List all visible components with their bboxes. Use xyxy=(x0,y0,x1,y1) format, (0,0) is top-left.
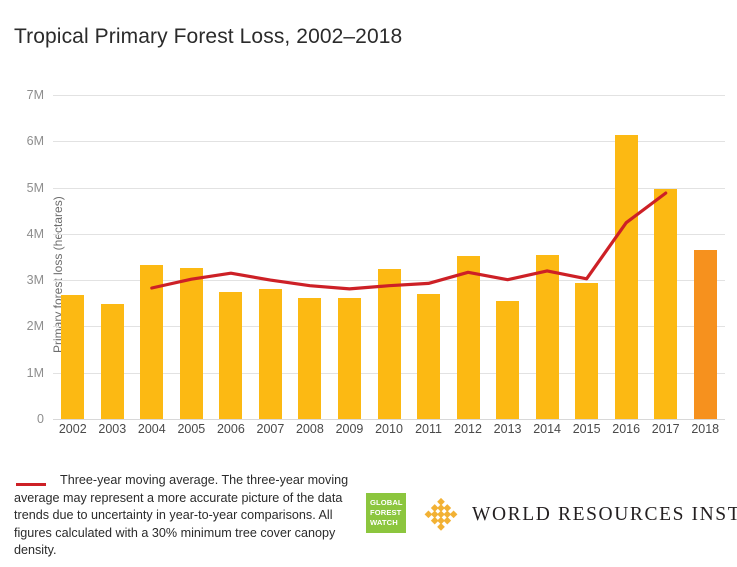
bar-2013 xyxy=(496,301,519,419)
wri-diamond-icon xyxy=(424,498,458,532)
y-axis-tick-label: 6M xyxy=(27,134,44,148)
x-axis-tick-label: 2012 xyxy=(454,422,482,436)
bar-2014 xyxy=(536,255,559,419)
x-axis-tick-label: 2002 xyxy=(59,422,87,436)
legend-label: Three-year moving average. The three-yea… xyxy=(14,472,359,560)
x-axis-tick-label: 2013 xyxy=(494,422,522,436)
x-axis-tick-label: 2006 xyxy=(217,422,245,436)
bar-2008 xyxy=(298,298,321,419)
x-axis-tick-label: 2014 xyxy=(533,422,561,436)
bar-2018 xyxy=(694,250,717,419)
bar-2006 xyxy=(219,292,242,419)
bar-2005 xyxy=(180,268,203,419)
x-axis-tick-label: 2017 xyxy=(652,422,680,436)
x-axis-tick-label: 2010 xyxy=(375,422,403,436)
x-axis-tick-label: 2016 xyxy=(612,422,640,436)
moving-average-line xyxy=(152,193,666,289)
bar-2011 xyxy=(417,294,440,419)
x-axis-tick-label: 2018 xyxy=(691,422,719,436)
legend-line-swatch xyxy=(16,483,46,486)
y-axis-tick-label: 3M xyxy=(27,273,44,287)
y-axis-tick-label: 5M xyxy=(27,181,44,195)
chart-plot-area: Primary forest loss (hectares) 7M6M5M4M3… xyxy=(53,95,725,419)
wri-wordmark: WORLD RESOURCES INSTITUTE xyxy=(472,504,737,526)
bar-2015 xyxy=(575,283,598,419)
bar-2007 xyxy=(259,289,282,419)
y-axis-tick-label: 4M xyxy=(27,227,44,241)
x-axis-tick-label: 2011 xyxy=(415,422,442,436)
bar-2009 xyxy=(338,298,361,419)
x-axis-tick-label: 2015 xyxy=(573,422,601,436)
gridline: 7M xyxy=(53,95,725,96)
y-axis-tick-label: 2M xyxy=(27,319,44,333)
y-axis-tick-label: 7M xyxy=(27,88,44,102)
y-axis-tick-label: 1M xyxy=(27,366,44,380)
bar-2010 xyxy=(378,269,401,419)
bar-2004 xyxy=(140,265,163,419)
x-axis-tick-label: 2004 xyxy=(138,422,166,436)
y-axis-tick-label: 0 xyxy=(37,412,44,426)
bar-2012 xyxy=(457,256,480,419)
gfw-logo-line-2: FOREST xyxy=(370,508,406,518)
global-forest-watch-logo: GLOBAL FOREST WATCH xyxy=(366,493,406,533)
gridline: 0 xyxy=(53,419,725,420)
world-resources-institute-logo: WORLD RESOURCES INSTITUTE xyxy=(424,498,737,532)
x-axis-tick-label: 2003 xyxy=(98,422,126,436)
gfw-logo-line-3: WATCH xyxy=(370,518,406,528)
bar-2017 xyxy=(654,189,677,419)
gfw-logo-line-1: GLOBAL xyxy=(370,498,406,508)
x-axis-tick-label: 2009 xyxy=(336,422,364,436)
bar-2002 xyxy=(61,295,84,419)
bar-2003 xyxy=(101,304,124,419)
chart-legend: Three-year moving average. The three-yea… xyxy=(14,472,359,560)
x-axis-tick-label: 2007 xyxy=(257,422,285,436)
x-axis-tick-label: 2005 xyxy=(177,422,205,436)
page-title: Tropical Primary Forest Loss, 2002–2018 xyxy=(14,25,402,49)
bar-2016 xyxy=(615,135,638,419)
x-axis-tick-label: 2008 xyxy=(296,422,324,436)
